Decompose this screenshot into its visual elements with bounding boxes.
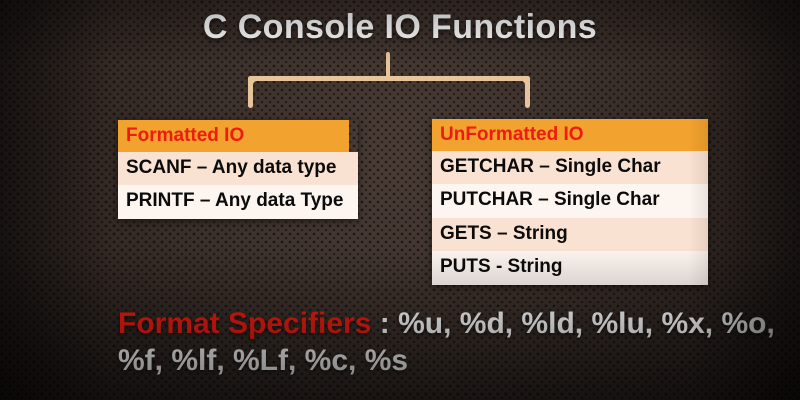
connector-arm-left	[248, 76, 253, 108]
table-row: PRINTF – Any data Type	[118, 185, 358, 218]
format-specifiers-line: Format Specifiers : %u, %d, %ld, %lu, %x…	[118, 306, 788, 380]
unformatted-io-header: UnFormatted IO	[432, 119, 708, 151]
format-specifiers-label: Format Specifiers	[118, 307, 371, 340]
table-row: PUTCHAR – Single Char	[432, 184, 708, 217]
page-title: C Console IO Functions	[0, 8, 800, 47]
table-row: PUTS - String	[432, 251, 708, 284]
formatted-io-header: Formatted IO	[118, 120, 349, 152]
connector-corner-right	[516, 76, 530, 90]
table-row: GETCHAR – Single Char	[432, 151, 708, 184]
connector-stem	[386, 52, 390, 80]
table-row: GETS – String	[432, 218, 708, 251]
connector-corner-left	[248, 76, 262, 90]
unformatted-io-table: UnFormatted IO GETCHAR – Single Char PUT…	[432, 119, 708, 285]
connector-horizontal-bar	[248, 76, 530, 81]
format-specifiers-separator: :	[371, 307, 398, 340]
table-row: SCANF – Any data type	[118, 152, 358, 185]
connector-arm-right	[525, 76, 530, 108]
slide-canvas: C Console IO Functions Formatted IO SCAN…	[0, 0, 800, 400]
formatted-io-table: Formatted IO SCANF – Any data type PRINT…	[118, 120, 358, 219]
